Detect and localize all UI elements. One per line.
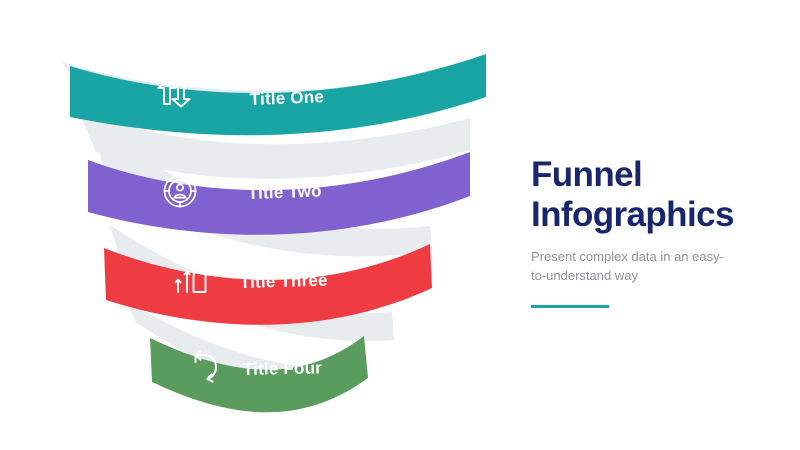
text-panel: Funnel Infographics Present complex data… bbox=[531, 155, 781, 308]
funnel-stage-1-label: Title One bbox=[249, 87, 324, 109]
page-title-line-1: Funnel bbox=[531, 155, 781, 195]
funnel-stage-3-label: Title Three bbox=[240, 271, 328, 292]
target-person-icon bbox=[164, 175, 197, 208]
funnel-diagram: Title One Title Two bbox=[0, 0, 520, 450]
page-title-line-2: Infographics bbox=[531, 195, 781, 235]
page-subtitle: Present complex data in an easy-to-under… bbox=[531, 248, 736, 286]
funnel-stage-2-label: Title Two bbox=[247, 181, 322, 203]
funnel-stage-1[interactable]: Title One bbox=[70, 54, 486, 135]
page-title: Funnel Infographics bbox=[531, 155, 781, 234]
accent-rule bbox=[531, 305, 609, 308]
funnel-stage-4-label: Title Four bbox=[243, 358, 323, 379]
slide-canvas: Title One Title Two bbox=[0, 0, 800, 450]
